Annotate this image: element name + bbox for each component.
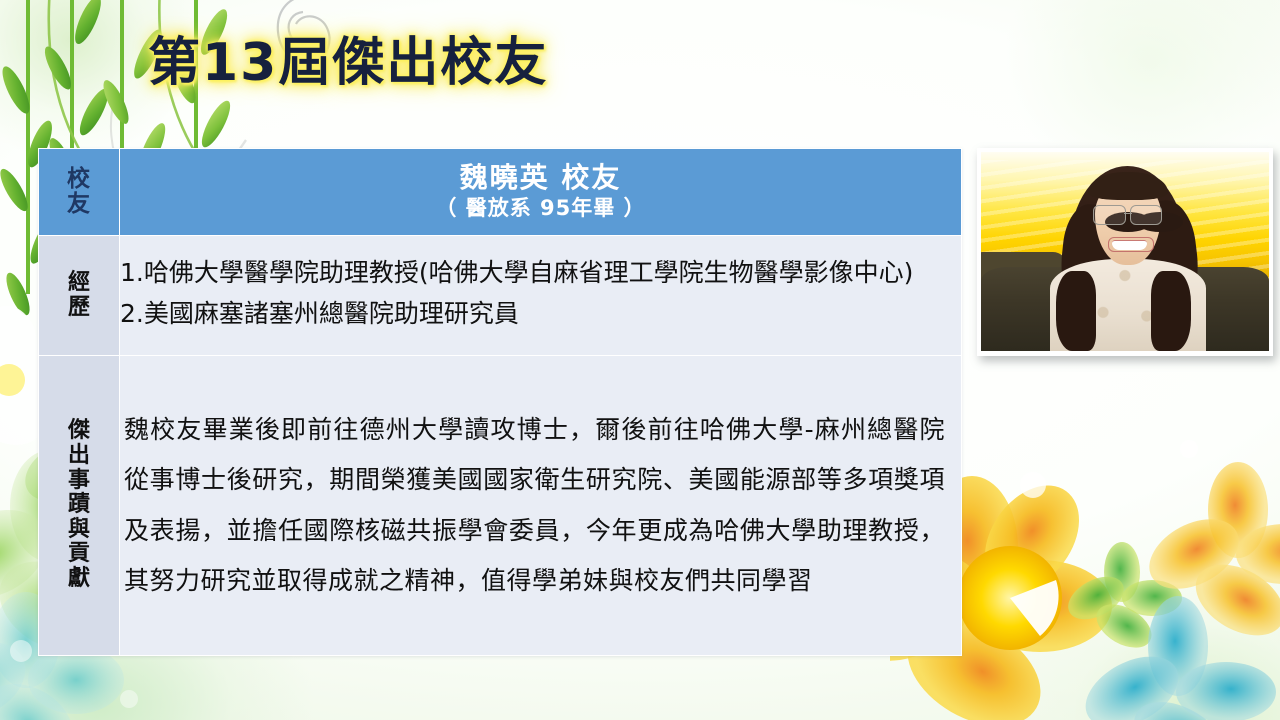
alumnus-info-table: 校 友 魏曉英 校友 （ 醫放系 95年畢 ） 經 歷 (38, 148, 962, 656)
photo-lens-right (1130, 205, 1162, 225)
experience-item-number: 2. (120, 298, 144, 331)
alumnus-header-cell: 魏曉英 校友 （ 醫放系 95年畢 ） (120, 149, 962, 236)
row-label-alumnus-char-2: 友 (67, 192, 91, 217)
achievements-text: 魏校友畢業後即前往德州大學讀攻博士，爾後前往哈佛大學-麻州總醫院從事博士後研究，… (120, 399, 961, 613)
alumnus-name: 魏曉英 校友 (120, 161, 961, 195)
row-label-experience: 經 歷 (39, 236, 120, 356)
experience-item-text: 哈佛大學醫學院助理教授(哈佛大學自麻省理工學院生物醫學影像中心) (144, 257, 961, 290)
row-label-experience-char-2: 歷 (68, 296, 90, 321)
row-label-experience-char-1: 經 (68, 271, 90, 296)
photo-hair-front-right (1151, 271, 1191, 351)
list-item: 1. 哈佛大學醫學院助理教授(哈佛大學自麻省理工學院生物醫學影像中心) (120, 257, 961, 290)
photo-teeth (1112, 240, 1147, 251)
bokeh-dot (1180, 440, 1198, 458)
row-label-achievements-char-6: 貢 (68, 542, 90, 567)
list-item: 2. 美國麻塞諸塞州總醫院助理研究員 (120, 298, 961, 331)
table-row-alumnus: 校 友 魏曉英 校友 （ 醫放系 95年畢 ） (39, 149, 962, 236)
experience-item-number: 1. (120, 257, 144, 290)
photo-hair-front-left (1056, 271, 1096, 351)
table-row-achievements: 傑 出 事 蹟 與 貢 獻 魏校友畢業後即前往德州大學讀攻博士，爾後前往哈佛大學… (39, 356, 962, 656)
experience-cell: 1. 哈佛大學醫學院助理教授(哈佛大學自麻省理工學院生物醫學影像中心) 2. 美… (120, 236, 962, 356)
row-label-alumnus: 校 友 (39, 149, 120, 236)
photo-glasses-bridge (1124, 213, 1132, 215)
alumnus-department: （ 醫放系 95年畢 ） (120, 195, 961, 222)
experience-item-text: 美國麻塞諸塞州總醫院助理研究員 (144, 298, 961, 331)
alumnus-photo-frame (977, 148, 1273, 356)
slide-canvas: 第13屆傑出校友 校 友 魏曉英 校友 （ 醫放系 95年畢 ） (0, 0, 1280, 720)
alumnus-photo (981, 152, 1269, 351)
photo-glasses (1093, 205, 1162, 223)
row-label-achievements-char-1: 傑 (68, 419, 90, 444)
row-label-achievements-char-4: 蹟 (68, 493, 90, 518)
row-label-achievements-char-3: 事 (68, 469, 90, 494)
page-title: 第13屆傑出校友 (148, 34, 548, 94)
row-label-achievements: 傑 出 事 蹟 與 貢 獻 (39, 356, 120, 656)
table-row-experience: 經 歷 1. 哈佛大學醫學院助理教授(哈佛大學自麻省理工學院生物醫學影像中心) … (39, 236, 962, 356)
bokeh-dot (10, 640, 32, 662)
bokeh-dot (120, 690, 138, 708)
row-label-achievements-char-5: 與 (68, 518, 90, 543)
photo-lens-left (1093, 205, 1125, 225)
row-label-achievements-char-7: 獻 (68, 567, 90, 592)
bokeh-dot (1020, 472, 1046, 498)
row-label-achievements-char-2: 出 (68, 444, 90, 469)
experience-list: 1. 哈佛大學醫學院助理教授(哈佛大學自麻省理工學院生物醫學影像中心) 2. 美… (120, 257, 961, 330)
row-label-alumnus-char-1: 校 (67, 167, 91, 192)
achievements-cell: 魏校友畢業後即前往德州大學讀攻博士，爾後前往哈佛大學-麻州總醫院從事博士後研究，… (120, 356, 962, 656)
